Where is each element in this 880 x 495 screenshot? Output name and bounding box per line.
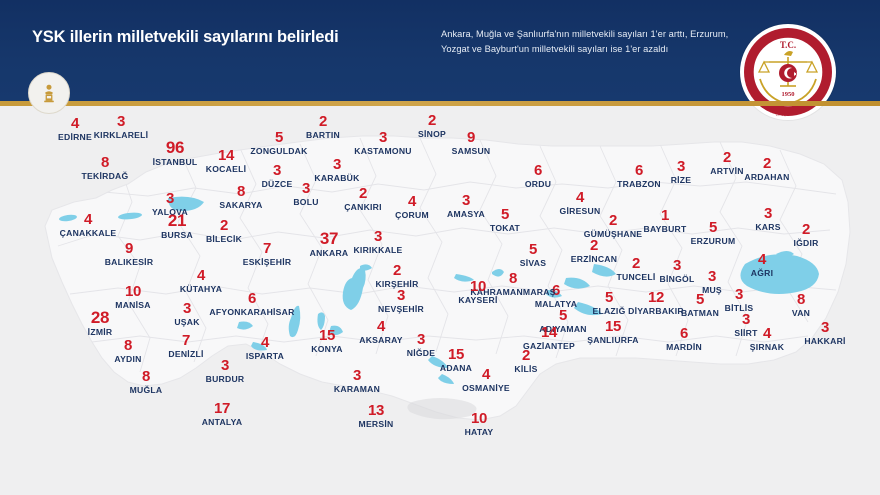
province-name: ORDU <box>525 180 551 189</box>
province-seat-count: 3 <box>671 159 692 174</box>
province-name: KARAMAN <box>334 385 380 394</box>
province-name: ANKARA <box>310 249 349 258</box>
province-label: 4ŞIRNAK <box>750 326 784 352</box>
province-name: AMASYA <box>447 210 485 219</box>
province-label: 4AKSARAY <box>359 319 402 345</box>
province-label: 37ANKARA <box>310 230 349 258</box>
province-seat-count: 2 <box>710 150 744 165</box>
page-subtitle: Ankara, Muğla ve Şanlıurfa'nın milletvek… <box>441 27 741 57</box>
province-label: 10KAYSERİ <box>458 279 497 305</box>
province-name: ZONGULDAK <box>250 147 307 156</box>
province-label: 4EDİRNE <box>58 116 92 142</box>
province-seat-count: 2 <box>306 114 340 129</box>
province-name: BAYBURT <box>644 225 687 234</box>
province-name: KONYA <box>311 345 343 354</box>
province-seat-count: 15 <box>311 328 343 343</box>
province-name: UŞAK <box>174 318 199 327</box>
province-name: HAKKARİ <box>804 337 845 346</box>
province-seat-count: 13 <box>359 403 394 418</box>
province-seat-count: 3 <box>206 358 245 373</box>
province-label: 96İSTANBUL <box>153 139 198 167</box>
province-label: 6TRABZON <box>617 163 661 189</box>
province-name: ÇANAKKALE <box>60 229 117 238</box>
province-name: ÇANKIRI <box>344 203 382 212</box>
province-label: 3KARABÜK <box>314 157 359 183</box>
province-name: KIRŞEHİR <box>375 280 418 289</box>
province-label: 13MERSİN <box>359 403 394 429</box>
province-seat-count: 4 <box>359 319 402 334</box>
province-name: HATAY <box>465 428 494 437</box>
province-name: ANTALYA <box>202 418 243 427</box>
svg-text:T.C.: T.C. <box>780 40 796 50</box>
province-seat-count: 3 <box>174 301 199 316</box>
province-label: 2ARTVİN <box>710 150 744 176</box>
province-label: 8MUĞLA <box>130 369 163 395</box>
province-name: ISPARTA <box>246 352 284 361</box>
province-label: 2BARTIN <box>306 114 340 140</box>
province-label: 5SİVAS <box>520 242 546 268</box>
province-name: SAKARYA <box>219 201 262 210</box>
province-label: 17ANTALYA <box>202 401 243 427</box>
province-seat-count: 4 <box>750 326 784 341</box>
province-seat-count: 3 <box>262 163 293 178</box>
province-label: 3KIRIKKALE <box>353 229 402 255</box>
province-name: DİYARBAKIR <box>628 307 684 316</box>
province-seat-count: 5 <box>520 242 546 257</box>
province-seat-count: 4 <box>58 116 92 131</box>
province-name: DÜZCE <box>262 180 293 189</box>
province-seat-count: 3 <box>152 191 188 206</box>
province-seat-count: 21 <box>161 212 193 229</box>
province-seat-count: 15 <box>440 347 472 362</box>
province-name: BİNGÖL <box>660 275 695 284</box>
province-name: BURSA <box>161 231 193 240</box>
province-label: 2ÇANKIRI <box>344 186 382 212</box>
province-name: KAYSERİ <box>458 296 497 305</box>
province-label: 3KIRKLARELİ <box>94 114 149 140</box>
province-seat-count: 37 <box>310 230 349 247</box>
province-name: AFYONKARAHİSAR <box>209 308 294 317</box>
province-seat-count: 1 <box>644 208 687 223</box>
province-label: 3RİZE <box>671 159 692 185</box>
province-name: SAMSUN <box>452 147 491 156</box>
province-name: TOKAT <box>490 224 520 233</box>
province-seat-count: 4 <box>246 335 284 350</box>
province-seat-count: 3 <box>755 206 780 221</box>
province-seat-count: 28 <box>88 309 113 326</box>
province-name: ERZURUM <box>691 237 736 246</box>
province-label: 4AĞRI <box>751 252 773 278</box>
province-seat-count: 3 <box>293 181 318 196</box>
province-label: 4ISPARTA <box>246 335 284 361</box>
province-label: 7DENİZLİ <box>168 333 203 359</box>
province-seat-count: 3 <box>354 130 411 145</box>
province-name: NİĞDE <box>407 349 435 358</box>
province-name: MARDİN <box>666 343 702 352</box>
province-label: 3UŞAK <box>174 301 199 327</box>
province-name: ARTVİN <box>710 167 744 176</box>
province-name: KARS <box>755 223 780 232</box>
province-name: İSTANBUL <box>153 158 198 167</box>
province-seat-count: 3 <box>734 312 757 327</box>
province-label: 8AYDIN <box>114 338 141 364</box>
province-label: 4ÇORUM <box>395 194 429 220</box>
province-label: 9SAMSUN <box>452 130 491 156</box>
province-name: RİZE <box>671 176 692 185</box>
page-title: YSK illerin milletvekili sayılarını beli… <box>32 28 432 48</box>
province-seat-count: 3 <box>407 332 435 347</box>
province-label: 4ÇANAKKALE <box>60 212 117 238</box>
province-label: 15KONYA <box>311 328 343 354</box>
province-name: KİLİS <box>514 365 537 374</box>
province-name: KIRKLARELİ <box>94 131 149 140</box>
svg-text:1950: 1950 <box>782 91 795 98</box>
province-label: 14KOCAELİ <box>206 148 246 174</box>
province-seat-count: 3 <box>378 288 424 303</box>
turkey-map: 4EDİRNE3KIRKLARELİ96İSTANBUL8TEKİRDAĞ14K… <box>0 106 880 451</box>
province-name: IĞDIR <box>793 239 818 248</box>
province-seat-count: 7 <box>243 241 292 256</box>
province-name: ELAZIĞ <box>592 307 625 316</box>
province-label: 3BİTLİS <box>725 287 754 313</box>
province-label: 6ORDU <box>525 163 551 189</box>
province-label: 5TOKAT <box>490 207 520 233</box>
province-label: 8SAKARYA <box>219 184 262 210</box>
province-seat-count: 3 <box>353 229 402 244</box>
province-seat-count: 17 <box>202 401 243 416</box>
province-label: 2IĞDIR <box>793 222 818 248</box>
province-label: 2ERZİNCAN <box>571 238 617 264</box>
province-seat-count: 5 <box>539 308 587 323</box>
province-label: 5ZONGULDAK <box>250 130 307 156</box>
province-name: TRABZON <box>617 180 661 189</box>
province-name: MANİSA <box>115 301 150 310</box>
province-seat-count: 2 <box>418 113 446 128</box>
province-label: 5BATMAN <box>681 292 719 318</box>
province-seat-count: 2 <box>744 156 789 171</box>
province-seat-count: 9 <box>105 241 154 256</box>
province-label: 28İZMİR <box>88 309 113 337</box>
province-seat-count: 96 <box>153 139 198 156</box>
province-seat-count: 3 <box>660 258 695 273</box>
province-seat-count: 3 <box>334 368 380 383</box>
province-label: 3MUŞ <box>702 269 722 295</box>
province-seat-count: 2 <box>375 263 418 278</box>
province-seat-count: 6 <box>666 326 702 341</box>
province-label: 2ARDAHAN <box>744 156 789 182</box>
province-seat-count: 8 <box>114 338 141 353</box>
province-name: ŞIRNAK <box>750 343 784 352</box>
province-seat-count: 2 <box>584 213 643 228</box>
province-name: EDİRNE <box>58 133 92 142</box>
province-name: VAN <box>792 309 810 318</box>
province-label: 6MARDİN <box>666 326 702 352</box>
province-label: 2SİNOP <box>418 113 446 139</box>
province-name: BALIKESİR <box>105 258 154 267</box>
province-label: 9BALIKESİR <box>105 241 154 267</box>
province-label: 2BİLECİK <box>206 218 242 244</box>
province-seat-count: 4 <box>180 268 222 283</box>
province-name: ESKİŞEHİR <box>243 258 292 267</box>
province-seat-count: 8 <box>82 155 129 170</box>
province-label: 8TEKİRDAĞ <box>82 155 129 181</box>
province-seat-count: 6 <box>209 291 294 306</box>
province-name: AKSARAY <box>359 336 402 345</box>
province-seat-count: 2 <box>206 218 242 233</box>
province-label: 15ŞANLIURFA <box>587 319 638 345</box>
province-label: 2KIRŞEHİR <box>375 263 418 289</box>
province-seat-count: 5 <box>592 290 625 305</box>
province-label: 2TUNCELİ <box>617 256 656 282</box>
province-name: KIRIKKALE <box>353 246 402 255</box>
province-name: BOLU <box>293 198 318 207</box>
province-label: 7ESKİŞEHİR <box>243 241 292 267</box>
province-seat-count: 3 <box>314 157 359 172</box>
province-label: 3HAKKARİ <box>804 320 845 346</box>
province-name: DENİZLİ <box>168 350 203 359</box>
province-label: 3DÜZCE <box>262 163 293 189</box>
province-name: ŞANLIURFA <box>587 336 638 345</box>
province-label: 2GÜMÜŞHANE <box>584 213 643 239</box>
province-seat-count: 4 <box>560 190 601 205</box>
province-seat-count: 12 <box>628 290 684 305</box>
province-seat-count: 5 <box>681 292 719 307</box>
province-seat-count: 8 <box>792 292 810 307</box>
province-seat-count: 10 <box>115 284 150 299</box>
province-seat-count: 3 <box>447 193 485 208</box>
province-seat-count: 2 <box>344 186 382 201</box>
province-seat-count: 14 <box>523 325 575 340</box>
province-label: 3KARAMAN <box>334 368 380 394</box>
province-seat-count: 2 <box>514 348 537 363</box>
province-name: SİNOP <box>418 130 446 139</box>
province-name: OSMANİYE <box>462 384 510 393</box>
province-label: 6AFYONKARAHİSAR <box>209 291 294 317</box>
province-name: TEKİRDAĞ <box>82 172 129 181</box>
province-label: 3BURDUR <box>206 358 245 384</box>
province-name: ERZİNCAN <box>571 255 617 264</box>
province-label: 1BAYBURT <box>644 208 687 234</box>
province-seat-count: 2 <box>793 222 818 237</box>
province-label: 4GİRESUN <box>560 190 601 216</box>
province-label: 4OSMANİYE <box>462 367 510 393</box>
province-seat-count: 5 <box>691 220 736 235</box>
province-seat-count: 8 <box>130 369 163 384</box>
province-label: 3KASTAMONU <box>354 130 411 156</box>
infographic-root: YSK illerin milletvekili sayılarını beli… <box>0 0 880 495</box>
province-name: KASTAMONU <box>354 147 411 156</box>
province-seat-count: 15 <box>587 319 638 334</box>
footer: 26.02.2025 AA <box>0 451 880 495</box>
province-seat-count: 3 <box>725 287 754 302</box>
province-label: 5ERZURUM <box>691 220 736 246</box>
province-name: ARDAHAN <box>744 173 789 182</box>
province-seat-count: 3 <box>804 320 845 335</box>
province-label: 21BURSA <box>161 212 193 240</box>
province-name: SİVAS <box>520 259 546 268</box>
province-label: 14GAZİANTEP <box>523 325 575 351</box>
province-label: 3NİĞDE <box>407 332 435 358</box>
province-name: BATMAN <box>681 309 719 318</box>
province-name: MERSİN <box>359 420 394 429</box>
province-seat-count: 14 <box>206 148 246 163</box>
province-name: BİLECİK <box>206 235 242 244</box>
province-name: BURDUR <box>206 375 245 384</box>
province-name: AYDIN <box>114 355 141 364</box>
header-bar: YSK illerin milletvekili sayılarını beli… <box>0 0 880 101</box>
province-name: ÇORUM <box>395 211 429 220</box>
province-label: 3BOLU <box>293 181 318 207</box>
province-label: 10HATAY <box>465 411 494 437</box>
province-seat-count: 2 <box>571 238 617 253</box>
province-seat-count: 3 <box>94 114 149 129</box>
province-label: 3NEVŞEHİR <box>378 288 424 314</box>
province-seat-count: 4 <box>395 194 429 209</box>
province-seat-count: 2 <box>617 256 656 271</box>
province-seat-count: 6 <box>617 163 661 178</box>
province-label: 12DİYARBAKIR <box>628 290 684 316</box>
province-label: 4KÜTAHYA <box>180 268 222 294</box>
province-label: 3KARS <box>755 206 780 232</box>
province-seat-count: 9 <box>452 130 491 145</box>
province-label: 10MANİSA <box>115 284 150 310</box>
province-seat-count: 7 <box>168 333 203 348</box>
province-name: TUNCELİ <box>617 273 656 282</box>
province-seat-count: 4 <box>60 212 117 227</box>
province-seat-count: 10 <box>458 279 497 294</box>
province-name: NEVŞEHİR <box>378 305 424 314</box>
province-label: 2KİLİS <box>514 348 537 374</box>
province-label: 3AMASYA <box>447 193 485 219</box>
province-seat-count: 4 <box>751 252 773 267</box>
province-label: 5ELAZIĞ <box>592 290 625 316</box>
province-name: BARTIN <box>306 131 340 140</box>
province-seat-count: 10 <box>465 411 494 426</box>
province-seat-count: 8 <box>219 184 262 199</box>
province-name: İZMİR <box>88 328 113 337</box>
province-label: 8VAN <box>792 292 810 318</box>
province-name: KARABÜK <box>314 174 359 183</box>
province-name: KOCAELİ <box>206 165 246 174</box>
province-seat-count: 3 <box>702 269 722 284</box>
province-seat-count: 5 <box>250 130 307 145</box>
province-name: AĞRI <box>751 269 773 278</box>
province-name: MUĞLA <box>130 386 163 395</box>
province-seat-count: 4 <box>462 367 510 382</box>
province-seat-count: 6 <box>525 163 551 178</box>
province-seat-count: 5 <box>490 207 520 222</box>
province-label: 3BİNGÖL <box>660 258 695 284</box>
